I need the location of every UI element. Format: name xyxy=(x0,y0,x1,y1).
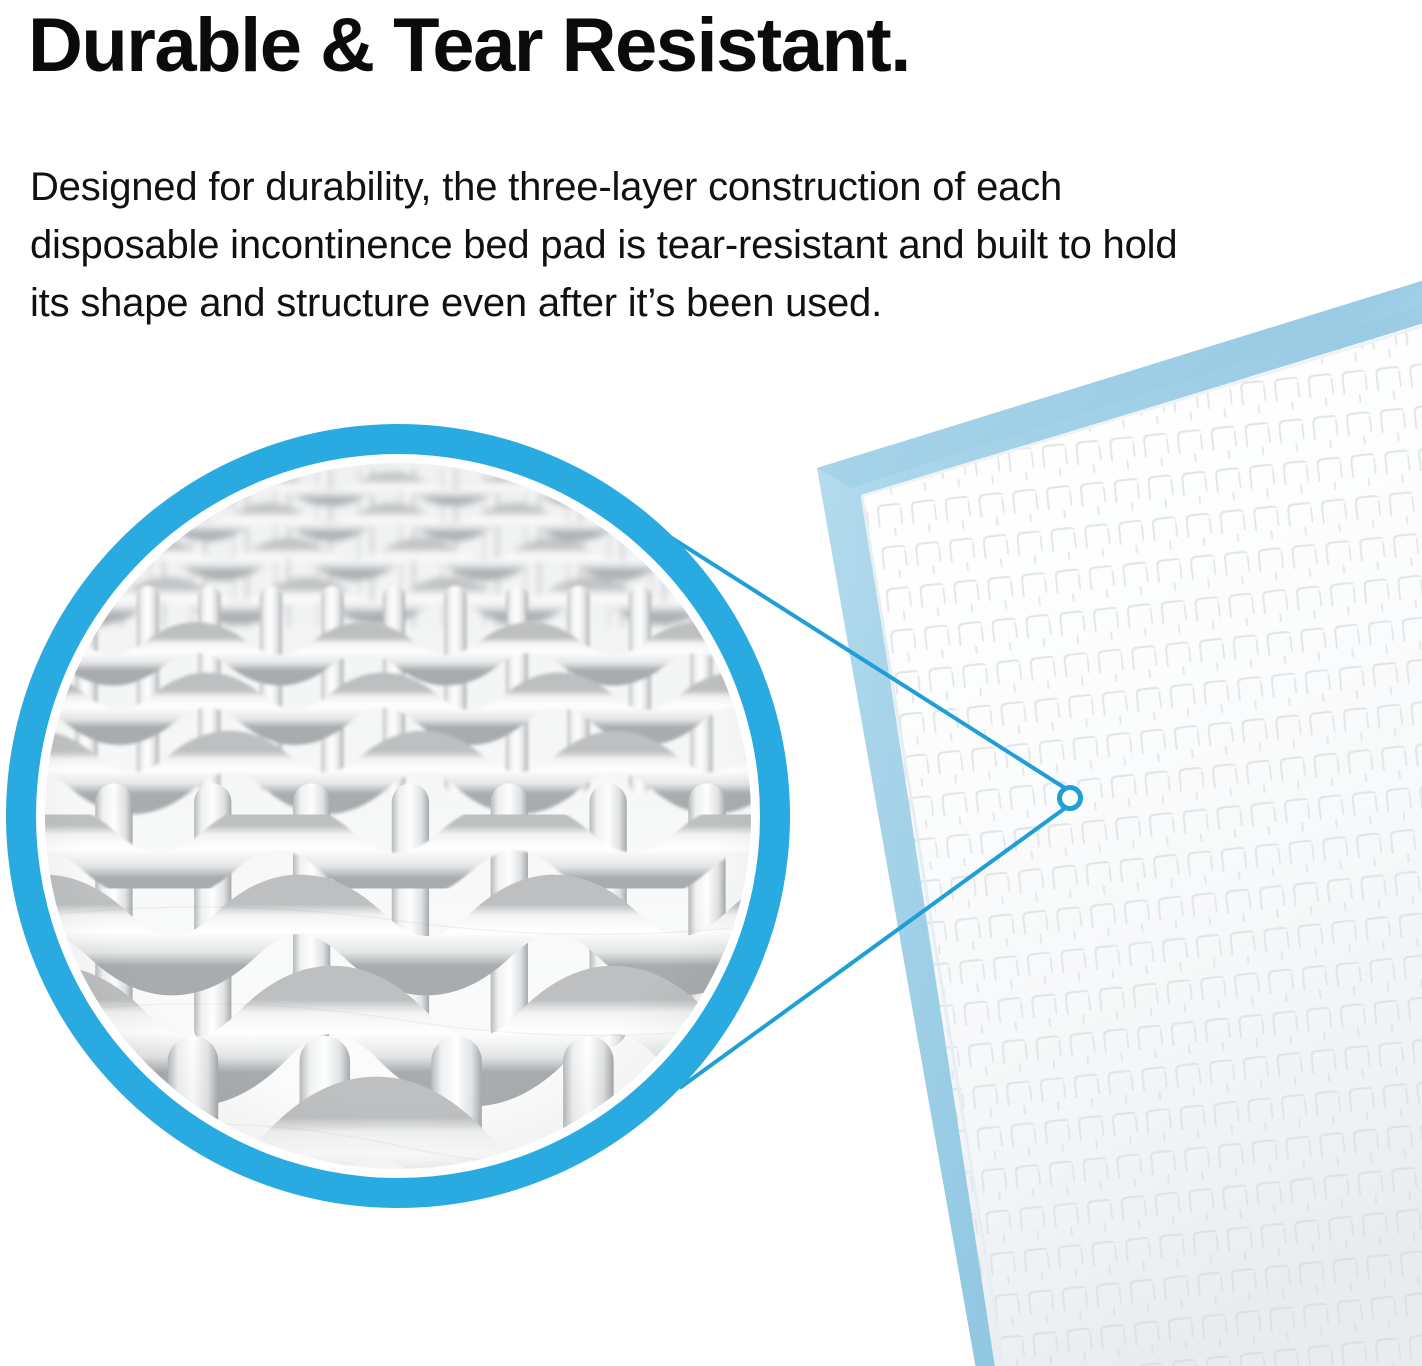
magnifier-alt-label: woven-fabric-macro-closeup xyxy=(0,0,1,1)
bed-pad-seam-left xyxy=(862,496,1006,1366)
product-alt-label: disposable-incontinence-bed-pad xyxy=(0,0,1,1)
bed-pad-quilt-texture xyxy=(840,280,1422,1366)
bed-pad-surface xyxy=(862,312,1422,1366)
magnifier-callout-circle xyxy=(6,424,790,1208)
bed-pad-seam-top xyxy=(862,312,1422,496)
body-description: Designed for durability, the three-layer… xyxy=(30,158,1210,332)
bed-pad-shadow xyxy=(832,288,1422,1366)
woven-fabric-macro-photo xyxy=(45,463,751,1169)
bed-pad-blue-border xyxy=(817,266,1422,1366)
bed-pad-border-left-edge xyxy=(817,468,1006,1366)
zoom-target-point-marker xyxy=(1057,785,1083,811)
woven-fabric-graphic xyxy=(45,463,751,1169)
page-title: Durable & Tear Resistant. xyxy=(28,2,910,90)
infographic-canvas: Durable & Tear Resistant. Designed for d… xyxy=(0,0,1422,1366)
